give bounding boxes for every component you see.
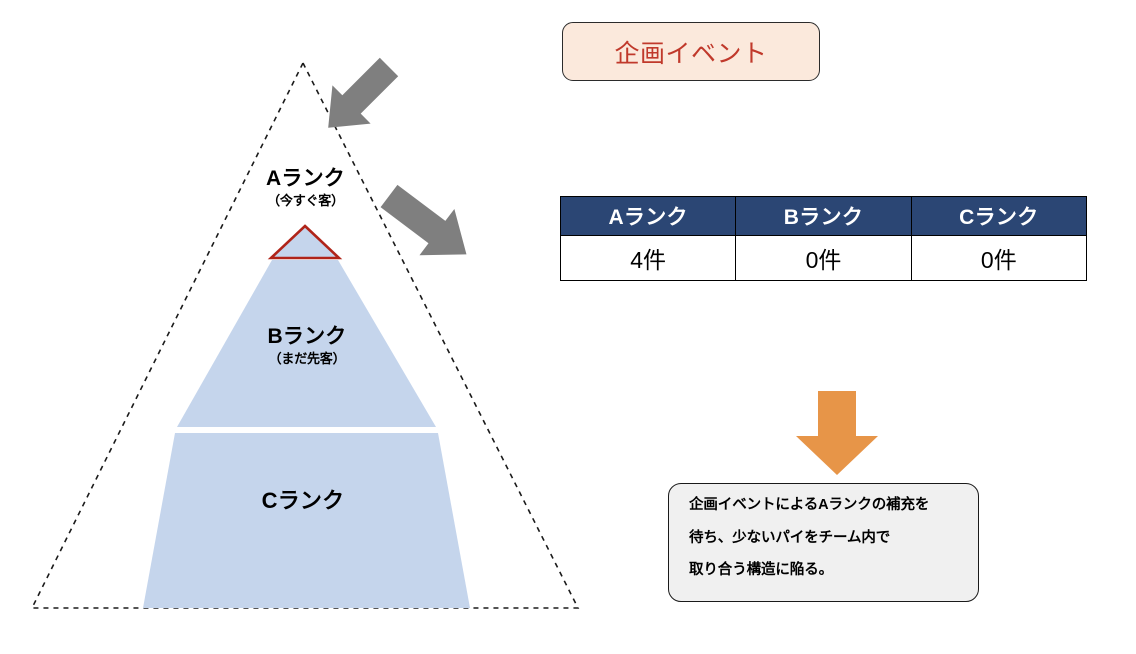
arrow-event-to-pyramid-icon xyxy=(309,48,408,147)
table-header-a: Aランク xyxy=(561,197,736,236)
table-cell-b-count: 0件 xyxy=(736,236,911,281)
table-header-b: Bランク xyxy=(736,197,911,236)
table-header-row: Aランク Bランク Cランク xyxy=(561,197,1087,236)
table-cell-a-count: 4件 xyxy=(561,236,736,281)
table-row: 4件 0件 0件 xyxy=(561,236,1087,281)
event-pill-label: 企画イベント xyxy=(614,34,767,70)
arrow-table-to-callout-icon xyxy=(796,391,878,475)
callout-line-2: 待ち、少ないパイをチーム内で xyxy=(689,531,962,546)
table-cell-c-count: 0件 xyxy=(911,236,1086,281)
rank-count-table: Aランク Bランク Cランク 4件 0件 0件 xyxy=(560,196,1087,281)
table-header-c: Cランク xyxy=(911,197,1086,236)
callout-line-1: 企画イベントによるAランクの補充を xyxy=(689,498,962,513)
arrow-event-to-table-icon xyxy=(372,173,484,278)
diagram-canvas: Aランク （今すぐ客） Bランク （まだ先客） Cランク 企画イベント xyxy=(0,0,1136,654)
callout-line-3: 取り合う構造に陥る。 xyxy=(689,563,962,578)
event-pill[interactable]: 企画イベント xyxy=(562,22,820,81)
conclusion-callout: 企画イベントによるAランクの補充を 待ち、少ないパイをチーム内で 取り合う構造に… xyxy=(668,483,979,602)
